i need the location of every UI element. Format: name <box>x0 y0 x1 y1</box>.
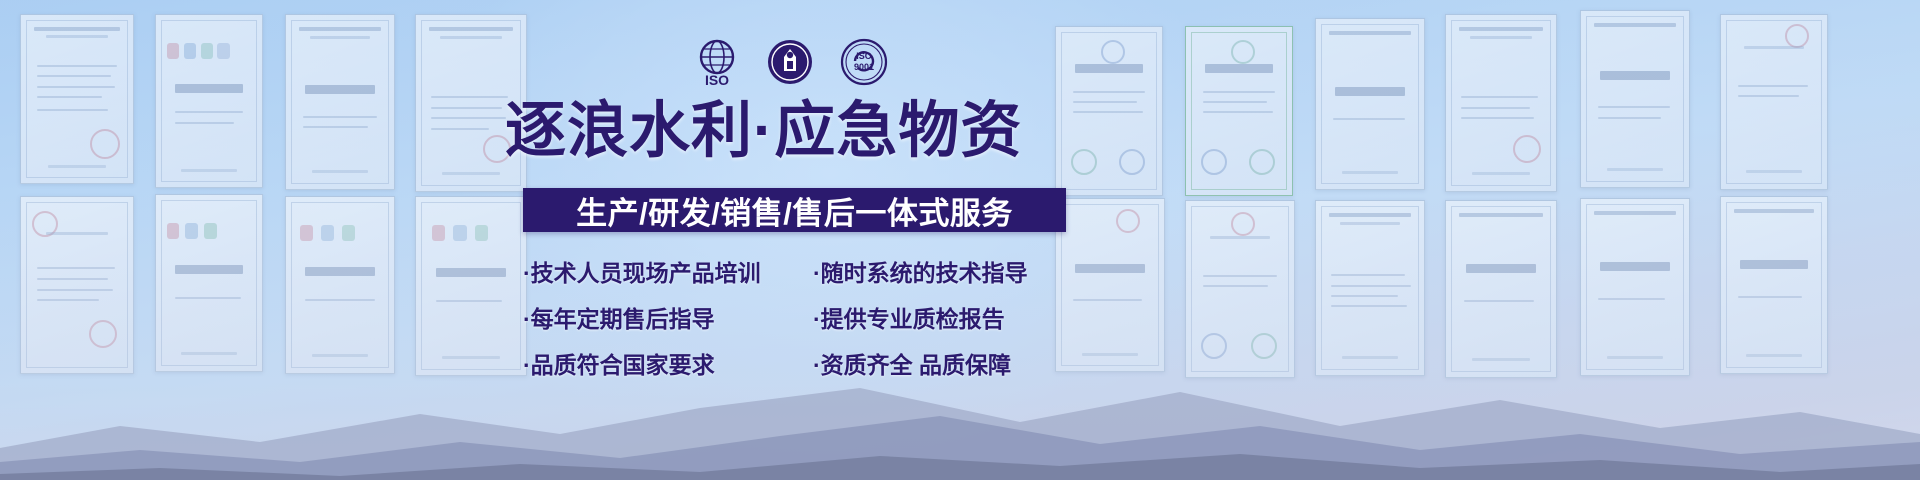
iso-globe-badge: ISO <box>690 35 744 89</box>
certificate-thumbnail <box>1445 14 1557 192</box>
feature-row: ·每年定期售后指导 ·提供专业质检报告 <box>523 294 1083 340</box>
certificate-thumbnail <box>1315 18 1425 190</box>
quality-shield-badge <box>763 35 817 89</box>
feature-row: ·技术人员现场产品培训 ·随时系统的技术指导 <box>523 248 1083 294</box>
certification-badge-row: ISO ISO 9001 <box>690 34 890 90</box>
feature-item: ·提供专业质检报告 <box>813 300 1083 334</box>
feature-item: ·随时系统的技术指导 <box>813 254 1083 288</box>
feature-row: ·品质符合国家要求 ·资质齐全 品质保障 <box>523 340 1083 386</box>
certificate-thumbnail <box>285 196 395 374</box>
certificate-thumbnail <box>155 14 263 188</box>
feature-list: ·技术人员现场产品培训 ·随时系统的技术指导 ·每年定期售后指导 ·提供专业质检… <box>523 248 1083 386</box>
certificate-thumbnail <box>20 196 134 374</box>
certificate-thumbnail <box>1185 200 1295 378</box>
promo-banner: ISO ISO 9001 逐浪水利·应急物资 生产/研发/销售/ <box>0 0 1920 480</box>
certificate-wall <box>0 0 1920 480</box>
cqc-iso9001-badge: ISO 9001 <box>836 35 890 89</box>
certificate-thumbnail <box>1720 14 1828 190</box>
certificate-thumbnail <box>285 14 395 190</box>
certificate-thumbnail <box>155 194 263 372</box>
certificate-thumbnail <box>1445 200 1557 378</box>
banner-subtitle-text: 生产/研发/销售/售后一体式服务 <box>576 188 1013 233</box>
certificate-thumbnail <box>1185 26 1293 196</box>
feature-item: ·资质齐全 品质保障 <box>813 346 1083 380</box>
svg-text:ISO: ISO <box>856 51 872 61</box>
feature-item: ·技术人员现场产品培训 <box>523 254 813 288</box>
certificate-thumbnail <box>415 196 527 376</box>
banner-subtitle-bar: 生产/研发/销售/售后一体式服务 <box>523 188 1066 232</box>
certificate-thumbnail <box>1315 200 1425 376</box>
feature-item: ·每年定期售后指导 <box>523 300 813 334</box>
certificate-thumbnail <box>1580 198 1690 376</box>
certificate-thumbnail <box>1580 10 1690 188</box>
certificate-thumbnail <box>20 14 134 184</box>
svg-text:9001: 9001 <box>854 62 874 72</box>
certificate-thumbnail <box>1720 196 1828 374</box>
feature-item: ·品质符合国家要求 <box>523 346 813 380</box>
banner-title: 逐浪水利·应急物资 <box>505 100 1085 161</box>
iso-badge-label: ISO <box>705 72 729 88</box>
